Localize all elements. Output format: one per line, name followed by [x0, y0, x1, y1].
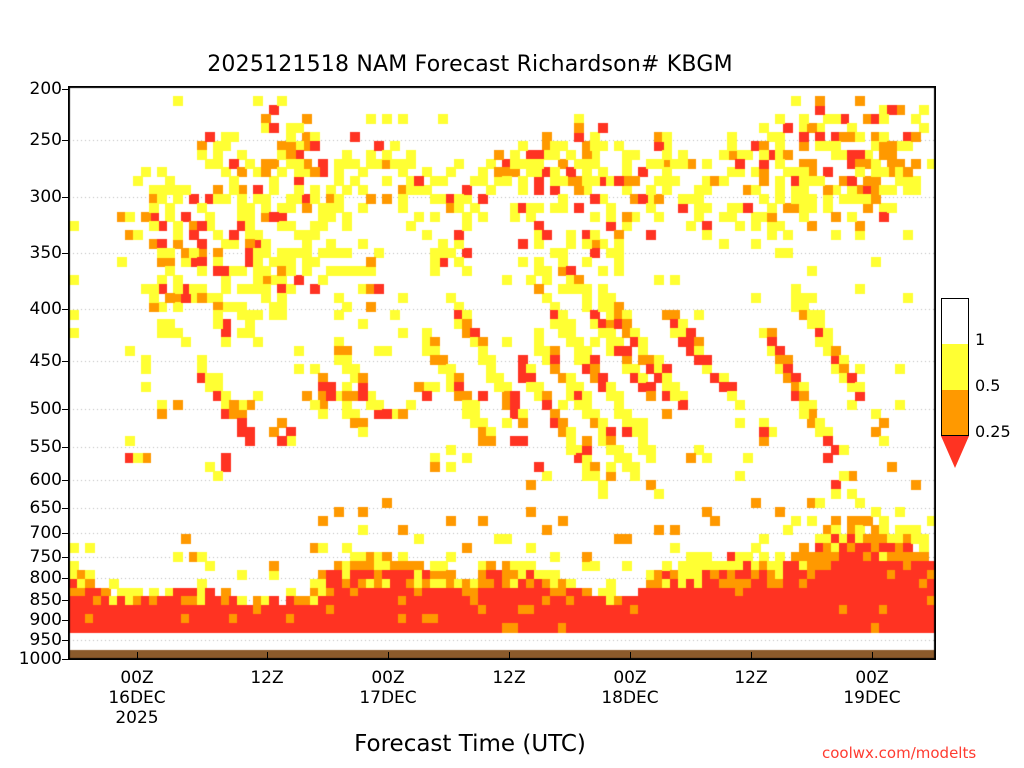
- x-tick-label: 12Z: [207, 668, 327, 688]
- y-tick-label: 400: [0, 299, 62, 319]
- y-tick-mark: [62, 89, 68, 90]
- y-tick-label: 650: [0, 498, 62, 518]
- y-tick-mark: [62, 447, 68, 448]
- y-tick-label: 500: [0, 399, 62, 419]
- y-tick-mark: [62, 480, 68, 481]
- x-tick-mark: [388, 652, 389, 660]
- chart-root: 2025121518 NAM Forecast Richardson# KBGM…: [0, 0, 1024, 768]
- colorbar: [941, 298, 971, 470]
- y-tick-mark: [62, 140, 68, 141]
- colorbar-outline: [941, 298, 969, 436]
- y-tick-label: 700: [0, 523, 62, 543]
- x-tick-mark: [509, 652, 510, 660]
- y-tick-label: 900: [0, 610, 62, 630]
- y-tick-mark: [62, 659, 68, 660]
- colorbar-arrow-low: [941, 436, 969, 468]
- y-tick-mark: [62, 557, 68, 558]
- x-tick-label: 12Z: [691, 668, 811, 688]
- y-tick-mark: [62, 508, 68, 509]
- y-tick-mark: [62, 578, 68, 579]
- x-tick-mark: [751, 652, 752, 660]
- y-tick-mark: [62, 253, 68, 254]
- y-tick-label: 250: [0, 130, 62, 150]
- y-tick-mark: [62, 409, 68, 410]
- y-tick-label: 450: [0, 351, 62, 371]
- y-tick-label: 600: [0, 470, 62, 490]
- y-tick-mark: [62, 197, 68, 198]
- colorbar-tick-label: 0.25: [975, 422, 1011, 441]
- y-tick-mark: [62, 600, 68, 601]
- x-tick-mark: [267, 652, 268, 660]
- y-tick-label: 850: [0, 590, 62, 610]
- x-tick-mark: [137, 652, 138, 660]
- x-tick-mark: [630, 652, 631, 660]
- x-tick-label: 00Z 18DEC: [570, 668, 690, 708]
- watermark: coolwx.com/modelts: [822, 744, 976, 762]
- colorbar-tick-label: 1: [975, 330, 985, 349]
- y-tick-mark: [62, 620, 68, 621]
- y-tick-mark: [62, 533, 68, 534]
- y-tick-mark: [62, 361, 68, 362]
- heatmap-canvas: [69, 87, 935, 659]
- y-tick-label: 350: [0, 243, 62, 263]
- x-tick-label: 00Z 17DEC: [328, 668, 448, 708]
- x-tick-label: 00Z 16DEC 2025: [77, 668, 197, 728]
- colorbar-tick-label: 0.5: [975, 376, 1000, 395]
- plot-area: [68, 86, 936, 660]
- y-tick-mark: [62, 640, 68, 641]
- y-tick-mark: [62, 309, 68, 310]
- x-axis-title: Forecast Time (UTC): [0, 731, 940, 757]
- x-tick-mark: [872, 652, 873, 660]
- y-tick-label: 300: [0, 187, 62, 207]
- y-tick-label: 1000: [0, 649, 62, 669]
- y-tick-label: 200: [0, 79, 62, 99]
- x-tick-label: 00Z 19DEC: [812, 668, 932, 708]
- chart-title: 2025121518 NAM Forecast Richardson# KBGM: [0, 52, 940, 77]
- y-tick-label: 550: [0, 437, 62, 457]
- x-tick-label: 12Z: [449, 668, 569, 688]
- y-tick-label: 800: [0, 568, 62, 588]
- y-tick-label: 950: [0, 630, 62, 650]
- y-tick-label: 750: [0, 547, 62, 567]
